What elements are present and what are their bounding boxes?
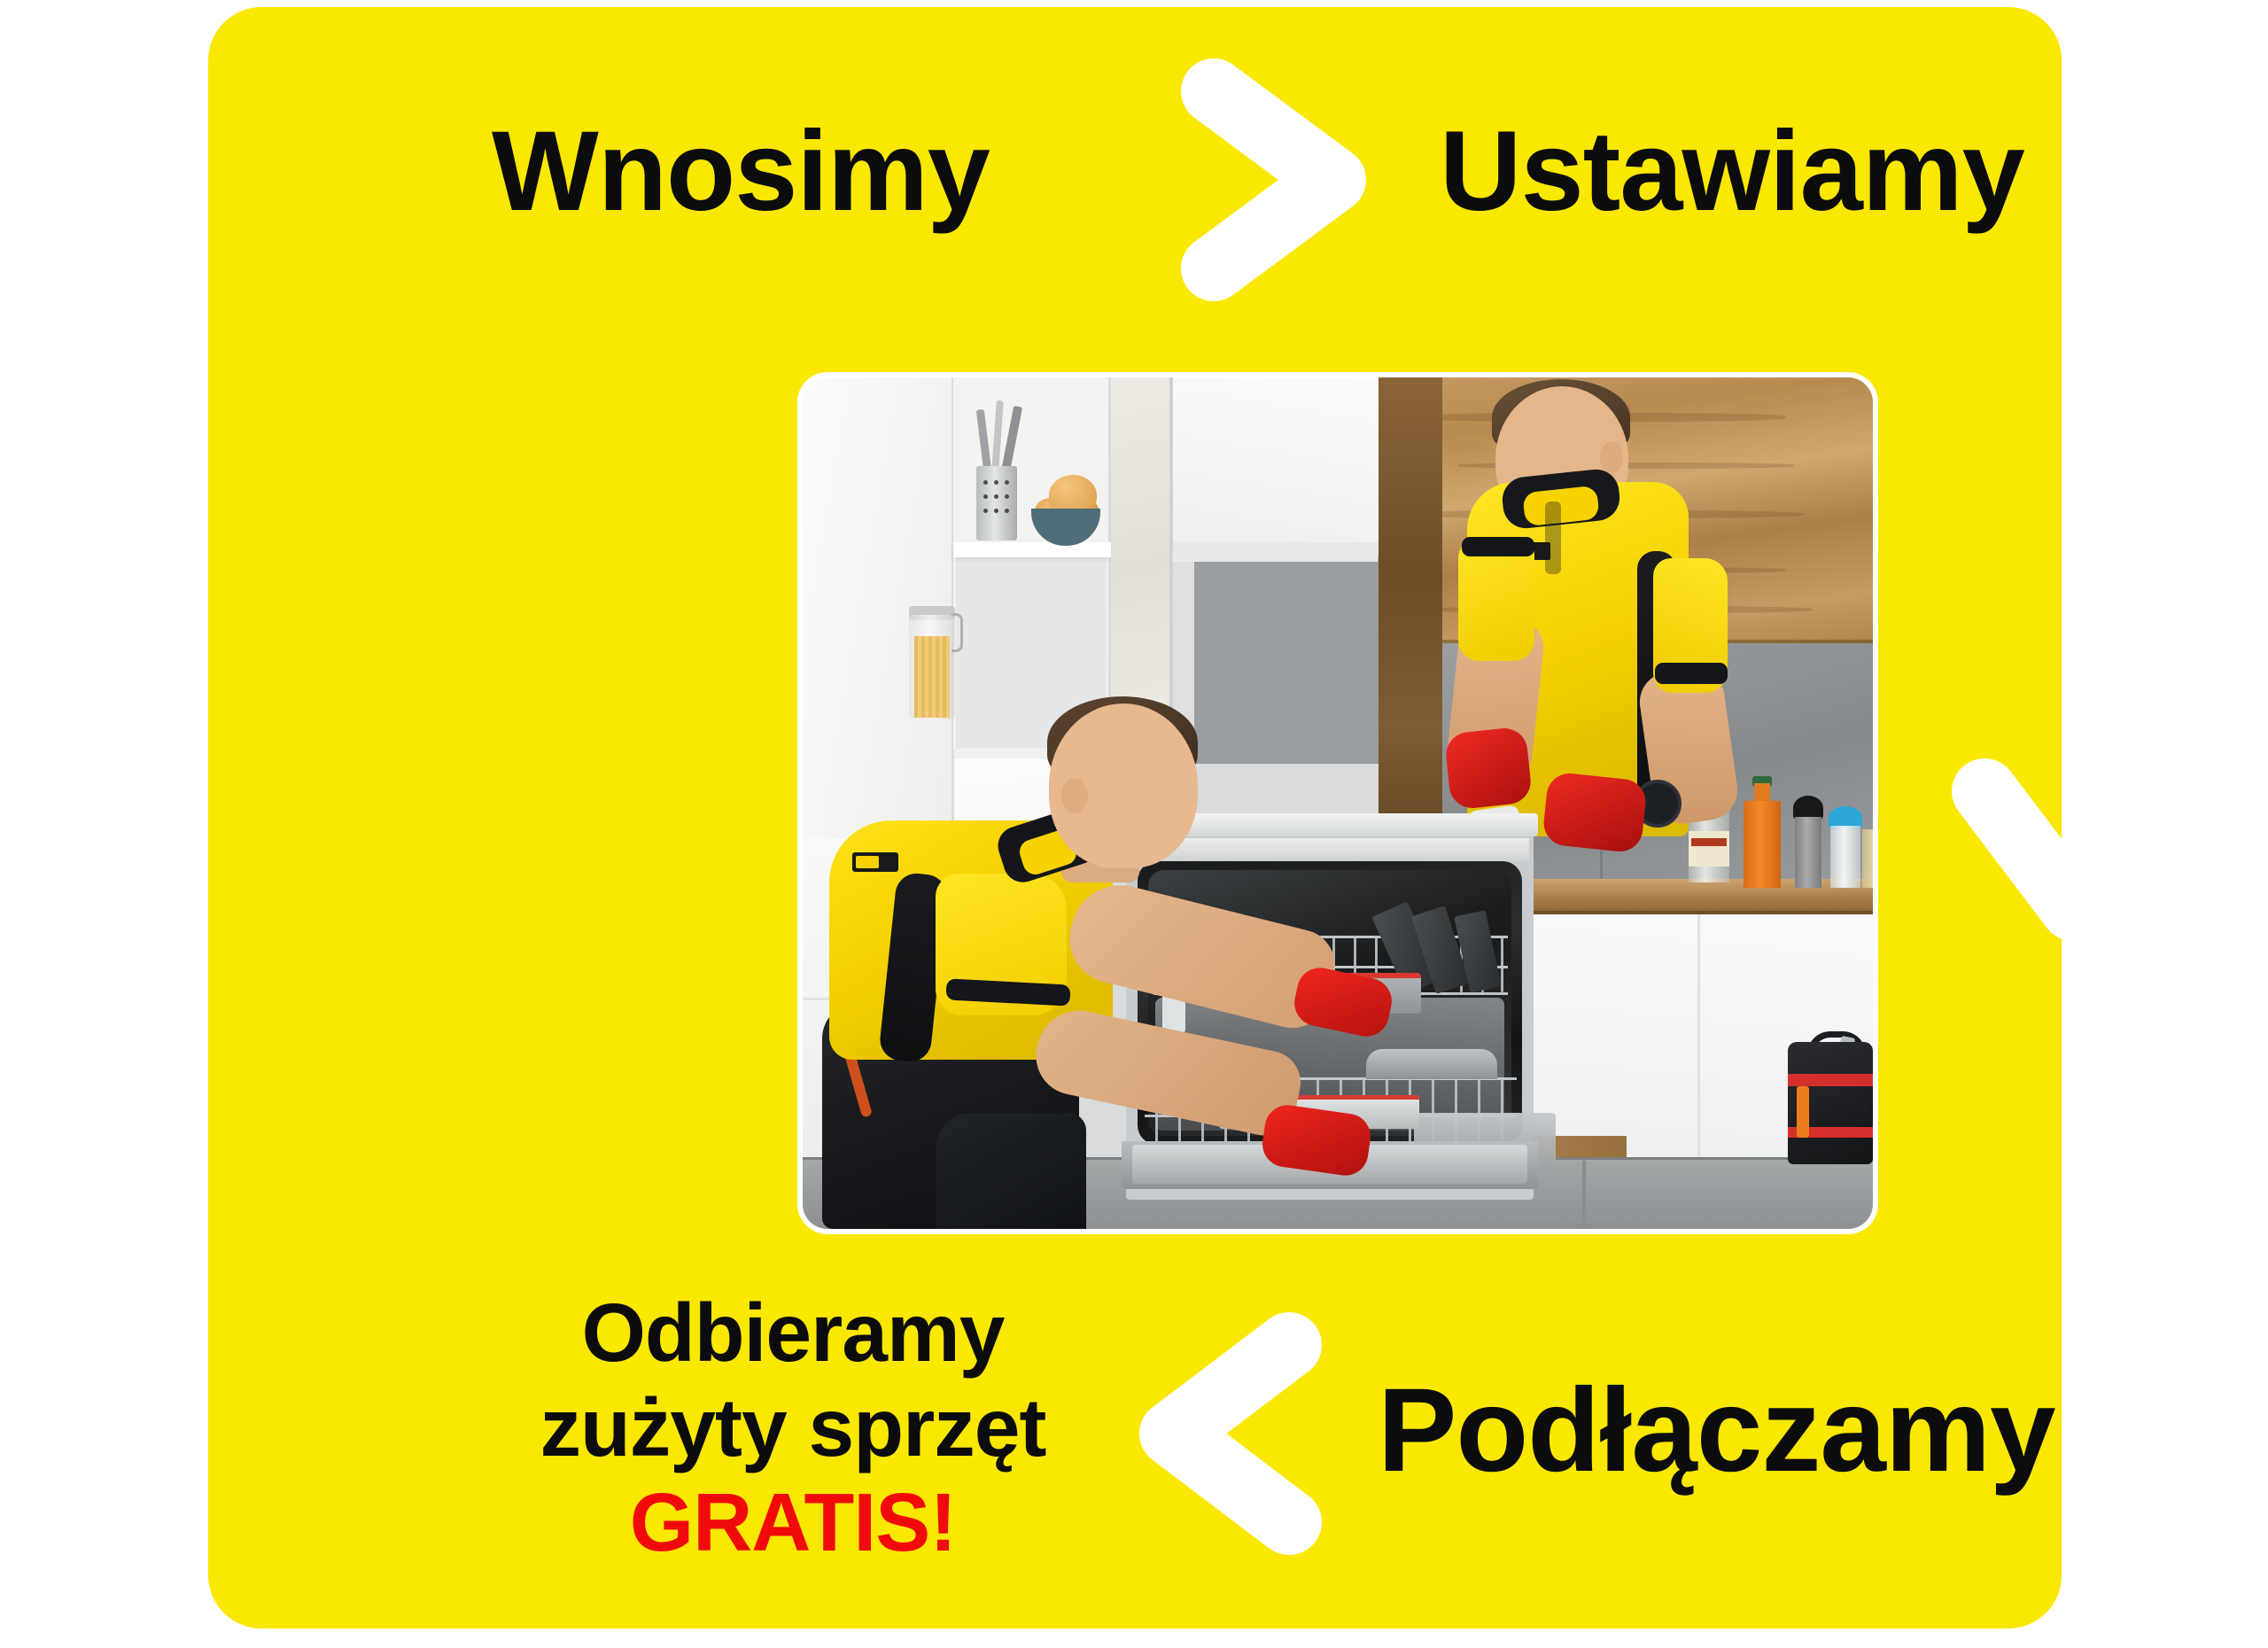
- chevron-right-icon: [1161, 47, 1382, 313]
- step-1-label: Wnosimy: [492, 115, 990, 229]
- chevron-down-icon: [1940, 738, 2206, 960]
- chevron-left-icon: [1121, 1301, 1342, 1566]
- pasta-jar: [951, 613, 963, 652]
- salt-shaker: [1830, 826, 1860, 888]
- step-4-gratis-label: GRATIS!: [474, 1481, 1112, 1564]
- worker-right-glove-right: [1542, 771, 1648, 853]
- banner-root: Wnosimy Ustawiamy Podłączamy Odbieramy z…: [0, 0, 2268, 1648]
- pepper-grinder: [1795, 817, 1821, 888]
- dishwasher-installation-photo: [803, 377, 1873, 1229]
- worker-right-glove-left: [1444, 726, 1533, 810]
- juice-bottle: [1744, 801, 1781, 888]
- yellow-card: Wnosimy Ustawiamy Podłączamy Odbieramy z…: [208, 7, 2062, 1629]
- oil-bottle: [1689, 831, 1729, 867]
- step-4-block: Odbieramy zużyty sprzęt GRATIS!: [474, 1292, 1112, 1564]
- utensil-holder: [976, 466, 1017, 540]
- step-2-label: Ustawiamy: [1440, 115, 2024, 229]
- step-3-label: Podłączamy: [1378, 1372, 2055, 1490]
- step-4-line-1: Odbieramy: [474, 1292, 1112, 1374]
- photo-frame: [797, 372, 1878, 1234]
- step-4-line-2: zużyty sprzęt: [474, 1387, 1112, 1469]
